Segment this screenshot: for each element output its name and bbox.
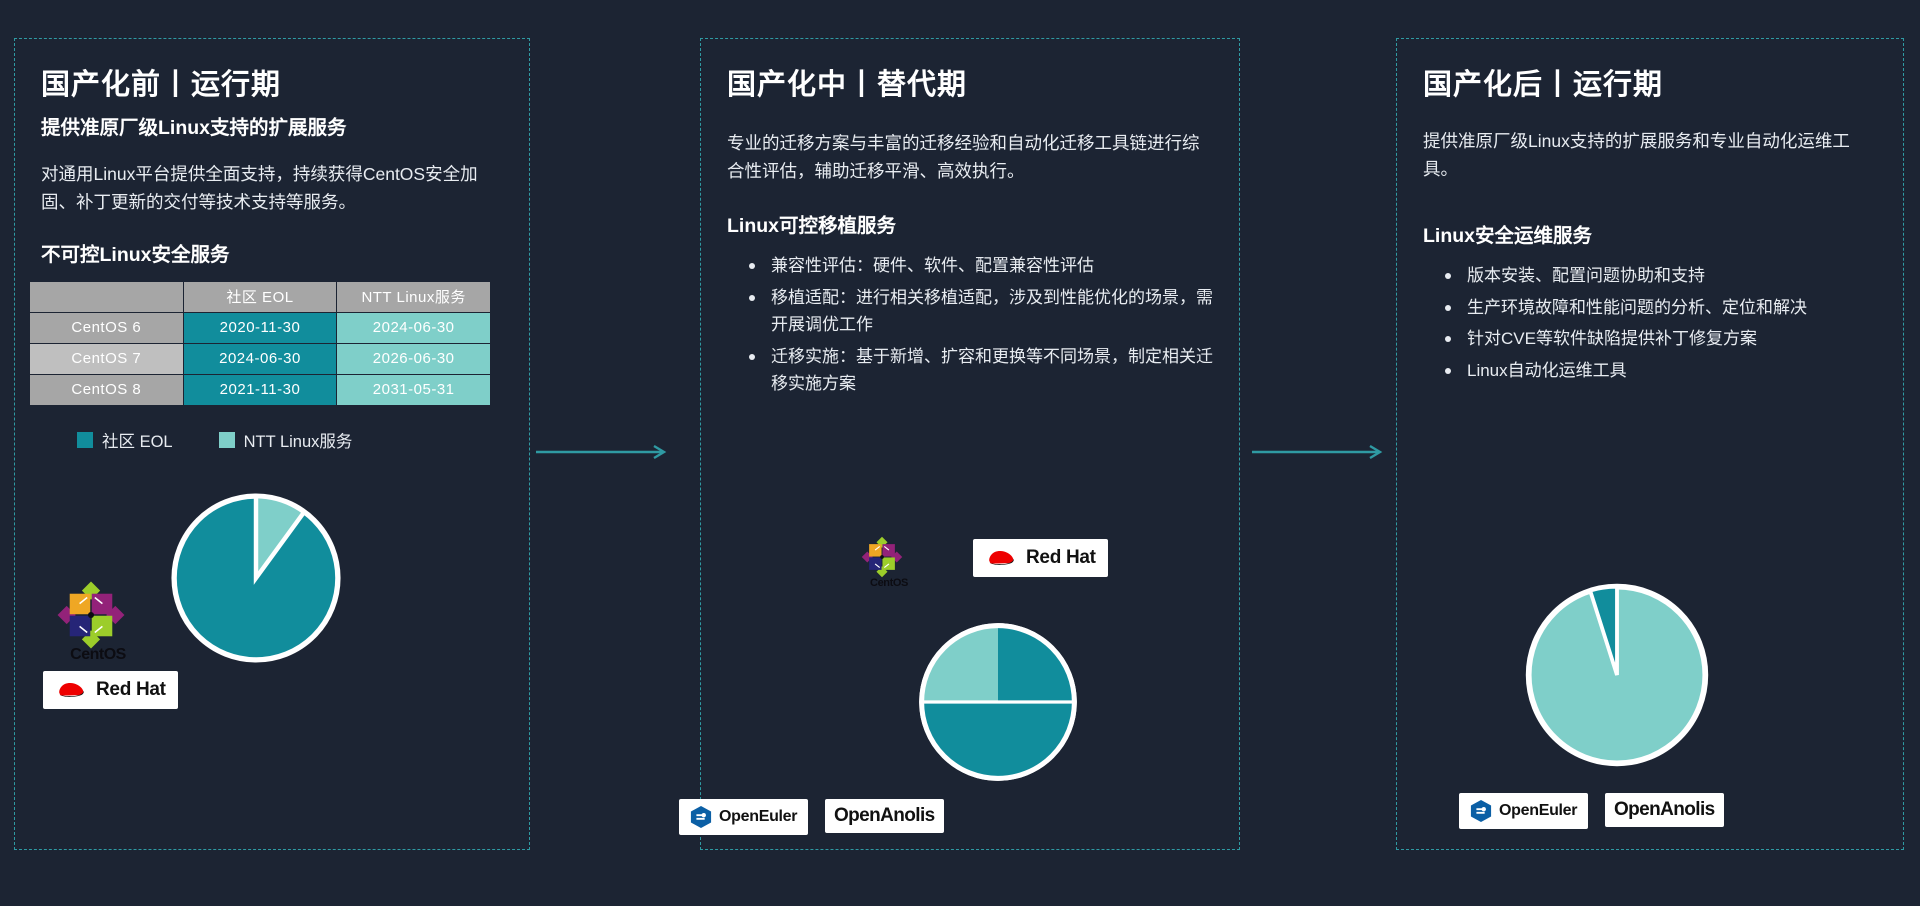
- panel-during-title: 国产化中丨替代期: [727, 67, 1213, 103]
- redhat-logo-group: Red Hat: [43, 671, 178, 709]
- legend-swatch-icon: [77, 432, 93, 448]
- table-cell-ntt: 2031-05-31: [337, 374, 491, 405]
- table-header-ntt: NTT Linux服务: [337, 281, 491, 312]
- table-cell-eol: 2024-06-30: [183, 343, 337, 374]
- panel-before-title: 国产化前丨运行期: [41, 67, 503, 103]
- table-cell-eol: 2021-11-30: [183, 374, 337, 405]
- legend-label: NTT Linux服务: [244, 428, 353, 452]
- panel-during: 国产化中丨替代期 专业的迁移方案与丰富的迁移经验和自动化迁移工具链进行综合性评估…: [700, 38, 1240, 850]
- openanolis-logo-group: OpenAnolis: [1605, 793, 1724, 827]
- panel-before-section-head: 不可控Linux安全服务: [41, 238, 503, 267]
- legend-item-ntt: NTT Linux服务: [219, 428, 353, 452]
- table-row: CentOS 7 2024-06-30 2026-06-30: [30, 343, 491, 374]
- table-cell-os: CentOS 6: [30, 312, 184, 343]
- legend-label: 社区 EOL: [102, 428, 173, 452]
- table-cell-ntt: 2026-06-30: [337, 343, 491, 374]
- openeuler-logo-label: OpenEuler: [1499, 802, 1577, 820]
- openanolis-logo-label: OpenAnolis: [834, 805, 935, 827]
- centos-logo-icon: [53, 577, 129, 653]
- pie-after-icon: [1521, 579, 1713, 771]
- table-row: CentOS 8 2021-11-30 2031-05-31: [30, 374, 491, 405]
- table-cell-os: CentOS 7: [30, 343, 184, 374]
- chart-legend: 社区 EOL NTT Linux服务: [77, 428, 529, 452]
- centos-logo-group: CentOS: [53, 577, 143, 664]
- openanolis-logo-group: OpenAnolis: [825, 799, 944, 833]
- eol-table: 社区 EOL NTT Linux服务 CentOS 6 2020-11-30 2…: [29, 281, 491, 406]
- arrow-before-to-during: [536, 440, 676, 469]
- centos-logo-group-small: CentOS: [859, 534, 919, 589]
- openeuler-icon: [1470, 799, 1492, 823]
- redhat-logo-label: Red Hat: [96, 679, 166, 701]
- panel-before-subtitle: 提供准原厂级Linux支持的扩展服务: [41, 115, 503, 141]
- legend-item-eol: 社区 EOL: [77, 428, 173, 452]
- openanolis-logo-label: OpenAnolis: [1614, 799, 1715, 821]
- arrow-right-icon: [536, 440, 676, 464]
- table-cell-eol: 2020-11-30: [183, 312, 337, 343]
- list-item: 版本安装、配置问题协助和支持: [1445, 262, 1877, 290]
- panel-after-description: 提供准原厂级Linux支持的扩展服务和专业自动化运维工具。: [1423, 127, 1877, 183]
- panel-during-description: 专业的迁移方案与丰富的迁移经验和自动化迁移工具链进行综合性评估，辅助迁移平滑、高…: [727, 129, 1213, 185]
- panel-before: 国产化前丨运行期 提供准原厂级Linux支持的扩展服务 对通用Linux平台提供…: [14, 38, 530, 850]
- redhat-fedora-icon: [55, 678, 89, 702]
- redhat-logo-label: Red Hat: [1026, 547, 1096, 569]
- list-item: 生产环境故障和性能问题的分析、定位和解决: [1445, 294, 1877, 322]
- openeuler-icon: [690, 805, 712, 829]
- list-item: 兼容性评估：硬件、软件、配置兼容性评估: [749, 252, 1213, 280]
- pie-chart-during: [915, 619, 1081, 790]
- list-item: 针对CVE等软件缺陷提供补丁修复方案: [1445, 325, 1877, 353]
- arrow-during-to-after: [1252, 440, 1392, 469]
- openeuler-logo-label: OpenEuler: [719, 808, 797, 826]
- legend-swatch-icon: [219, 432, 235, 448]
- list-item: 移植适配：进行相关移植适配，涉及到性能优化的场景，需开展调优工作: [749, 284, 1213, 339]
- table-header-eol: 社区 EOL: [183, 281, 337, 312]
- table-row: CentOS 6 2020-11-30 2024-06-30: [30, 312, 491, 343]
- centos-logo-icon: [859, 534, 905, 580]
- pie-chart-before: [167, 489, 345, 672]
- pie-before-icon: [167, 489, 345, 667]
- panel-during-section-head: Linux可控移植服务: [727, 209, 1213, 238]
- table-header-row: 社区 EOL NTT Linux服务: [30, 281, 491, 312]
- pie-during-icon: [915, 619, 1081, 785]
- table-header-blank: [30, 281, 184, 312]
- openeuler-logo-group: OpenEuler: [1459, 793, 1588, 829]
- list-item: Linux自动化运维工具: [1445, 357, 1877, 385]
- panel-after-title: 国产化后丨运行期: [1423, 67, 1877, 103]
- list-item: 迁移实施：基于新增、扩容和更换等不同场景，制定相关迁移实施方案: [749, 343, 1213, 398]
- redhat-fedora-icon: [985, 546, 1019, 570]
- table-cell-os: CentOS 8: [30, 374, 184, 405]
- panel-during-bullet-list: 兼容性评估：硬件、软件、配置兼容性评估 移植适配：进行相关移植适配，涉及到性能优…: [727, 252, 1213, 398]
- table-cell-ntt: 2024-06-30: [337, 312, 491, 343]
- openeuler-logo-group: OpenEuler: [679, 799, 808, 835]
- pie-chart-after: [1521, 579, 1713, 776]
- panel-before-description: 对通用Linux平台提供全面支持，持续获得CentOS安全加固、补丁更新的交付等…: [41, 160, 503, 216]
- panel-after: 国产化后丨运行期 提供准原厂级Linux支持的扩展服务和专业自动化运维工具。 L…: [1396, 38, 1904, 850]
- panel-after-section-head: Linux安全运维服务: [1423, 219, 1877, 248]
- arrow-right-icon: [1252, 440, 1392, 464]
- panel-after-bullet-list: 版本安装、配置问题协助和支持 生产环境故障和性能问题的分析、定位和解决 针对CV…: [1423, 262, 1877, 384]
- redhat-logo-group: Red Hat: [973, 539, 1108, 577]
- slide-canvas: 国产化前丨运行期 提供准原厂级Linux支持的扩展服务 对通用Linux平台提供…: [0, 0, 1920, 906]
